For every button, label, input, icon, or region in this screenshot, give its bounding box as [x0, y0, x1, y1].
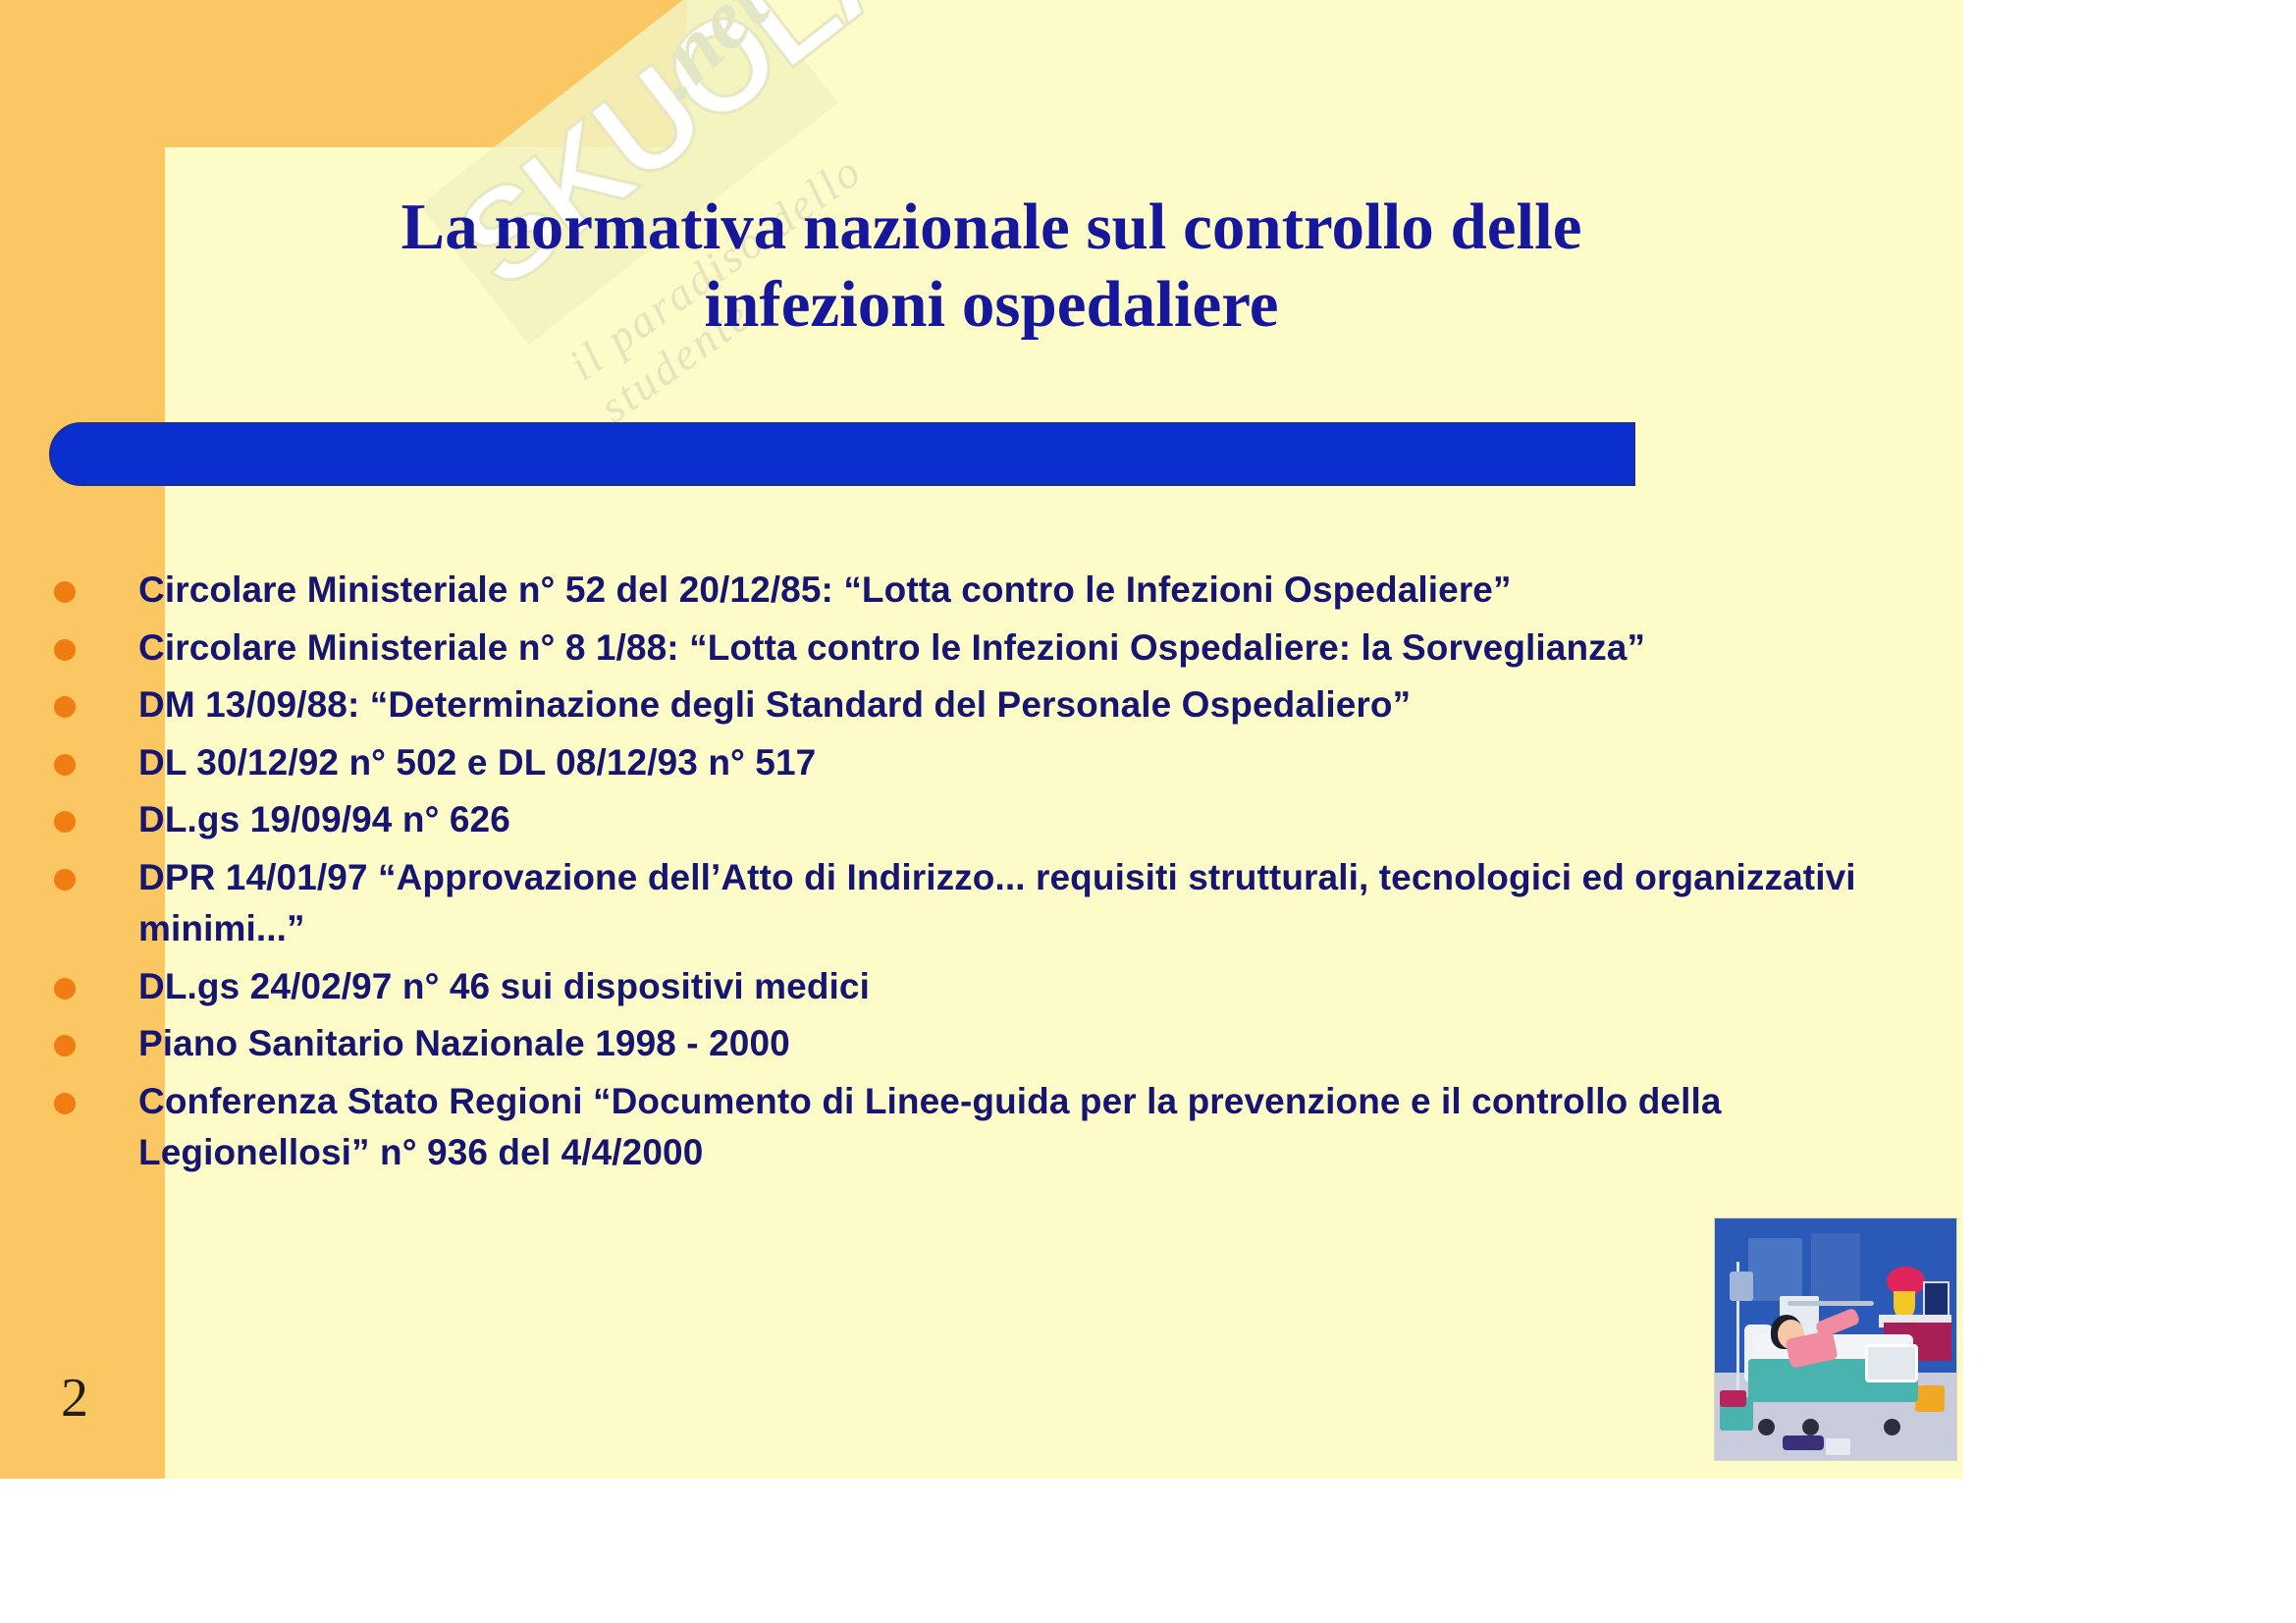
list-item-label: DM 13/09/88: “Determinazione degli Stand…: [138, 679, 1890, 731]
list-item-label: Conferenza Stato Regioni “Documento di L…: [138, 1076, 1890, 1179]
bullet-dot-icon: [54, 696, 76, 718]
photo-caster: [1826, 1438, 1850, 1455]
bullet-dot-icon: [54, 581, 76, 603]
bullet-dot-icon: [54, 639, 76, 661]
list-item: DL 30/12/92 n° 502 e DL 08/12/93 n° 517: [54, 737, 1890, 789]
photo-picture-frame: [1923, 1281, 1949, 1318]
page-number: 2: [61, 1367, 88, 1430]
orange-corner-block-secondary: [0, 0, 609, 137]
bullet-dot-icon: [54, 869, 76, 891]
list-item-label: DPR 14/01/97 “Approvazione dell’Atto di …: [138, 852, 1890, 955]
page-title: La normativa nazionale sul controllo del…: [294, 189, 1688, 344]
photo-iv-bag: [1730, 1271, 1754, 1301]
blue-divider-bar: [49, 422, 1635, 486]
list-item: DPR 14/01/97 “Approvazione dell’Atto di …: [54, 852, 1890, 955]
bullet-list: Circolare Ministeriale n° 52 del 20/12/8…: [54, 565, 1890, 1185]
list-item-label: DL 30/12/92 n° 502 e DL 08/12/93 n° 517: [138, 737, 1890, 789]
list-item: DL.gs 24/02/97 n° 46 sui dispositivi med…: [54, 961, 1890, 1013]
list-item: Conferenza Stato Regioni “Documento di L…: [54, 1076, 1890, 1179]
list-item-label: Piano Sanitario Nazionale 1998 - 2000: [138, 1018, 1890, 1070]
photo-wall-panel: [1748, 1238, 1801, 1301]
photo-wall-panel-2: [1811, 1233, 1859, 1306]
list-item: DM 13/09/88: “Determinazione degli Stand…: [54, 679, 1890, 731]
list-item-label: DL.gs 24/02/97 n° 46 sui dispositivi med…: [138, 961, 1890, 1013]
page-title-line-2: infezioni ospedaliere: [294, 266, 1688, 344]
list-item-label: DL.gs 19/09/94 n° 626: [138, 794, 1890, 846]
photo-bed-rail: [1865, 1344, 1918, 1382]
list-item: DL.gs 19/09/94 n° 626: [54, 794, 1890, 846]
bullet-dot-icon: [54, 811, 76, 833]
list-item: Circolare Ministeriale n° 8 1/88: “Lotta…: [54, 622, 1890, 675]
list-item-label: Circolare Ministeriale n° 52 del 20/12/8…: [138, 565, 1890, 617]
photo-slippers: [1783, 1435, 1824, 1450]
photo-waste-bin: [1915, 1385, 1945, 1412]
photo-bed-wheel: [1802, 1419, 1819, 1435]
hospital-bed-photo: [1714, 1217, 1957, 1461]
bullet-dot-icon: [54, 754, 76, 776]
page-title-line-1: La normativa nazionale sul controllo del…: [294, 189, 1688, 266]
slide-canvas: SKUOLA .net il paradiso dello studente L…: [0, 0, 1963, 1479]
list-item-label: Circolare Ministeriale n° 8 1/88: “Lotta…: [138, 622, 1890, 675]
photo-chair-cushion: [1720, 1390, 1746, 1407]
bullet-dot-icon: [54, 978, 76, 1000]
bullet-dot-icon: [54, 1093, 76, 1114]
photo-overhead-arm: [1788, 1301, 1875, 1306]
bullet-dot-icon: [54, 1035, 76, 1056]
list-item: Circolare Ministeriale n° 52 del 20/12/8…: [54, 565, 1890, 617]
list-item: Piano Sanitario Nazionale 1998 - 2000: [54, 1018, 1890, 1070]
